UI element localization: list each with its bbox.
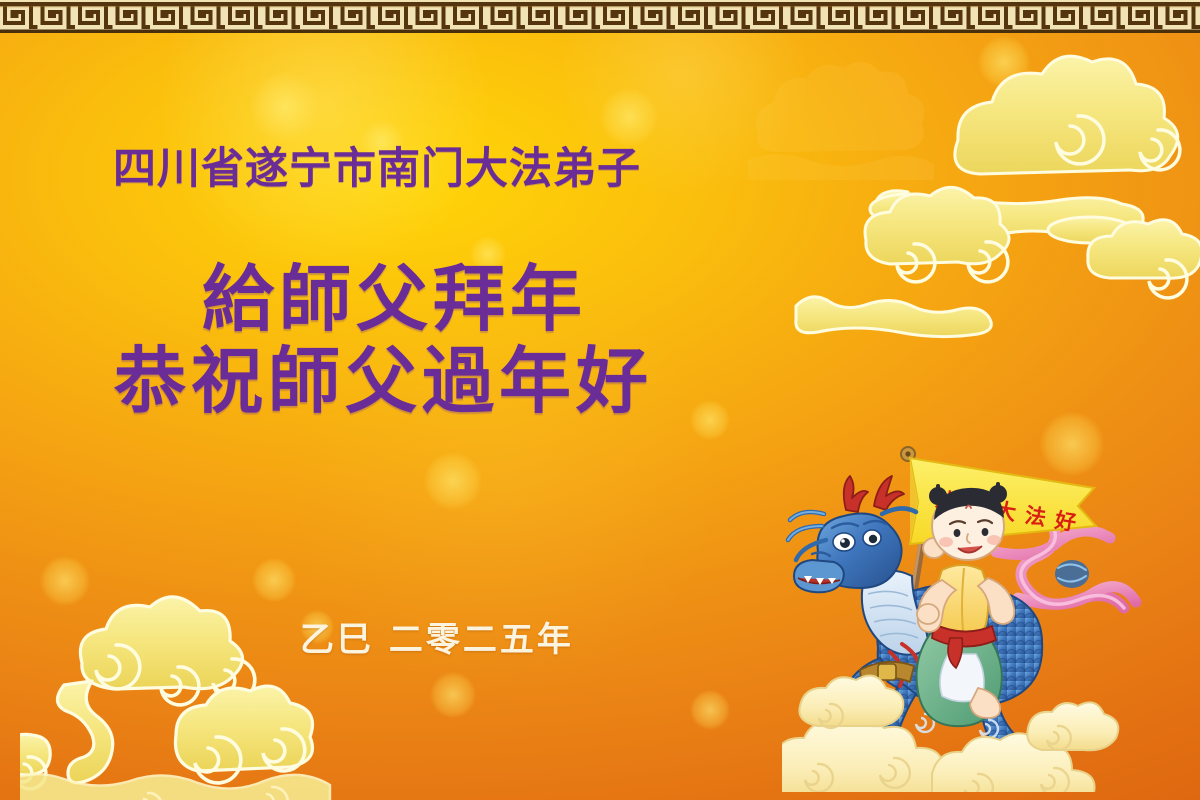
sender-line: 四川省遂宁市南门大法弟子: [113, 134, 641, 196]
bokeh-light: [252, 558, 296, 602]
auspicious-cloud-icon: [740, 40, 990, 230]
greeting-card: 四川省遂宁市南门大法弟子 給師父拜年 恭祝師父過年好 乙巳 二零二五年: [0, 0, 1200, 800]
cloud-decoration-top-right: [790, 44, 1200, 344]
cloud-decoration-bottom-left: [20, 571, 350, 800]
bokeh-light: [40, 556, 90, 606]
illustration-child-riding-dragon: 法 輪 大 法 好: [782, 402, 1142, 792]
auspicious-cloud-icon: [790, 44, 1200, 344]
greek-key-meander-icon: [0, 0, 1200, 33]
greeting-line-2: 恭祝師父過年好: [110, 340, 653, 422]
date-line: 乙巳 二零二五年: [300, 612, 574, 661]
new-year-illustration: 法 輪 大 法 好: [782, 402, 1142, 792]
greeting-block: 給師父拜年 恭祝師父過年好: [110, 258, 653, 422]
bokeh-light: [978, 36, 1030, 88]
bokeh-light: [424, 452, 482, 510]
cloud-decoration-ghost: [740, 40, 990, 230]
auspicious-cloud-icon: [20, 571, 350, 800]
bokeh-light: [430, 672, 476, 718]
greeting-line-1: 給師父拜年: [110, 258, 653, 340]
top-decorative-border: [0, 0, 1200, 33]
svg-text:好: 好: [1052, 508, 1077, 535]
svg-text:法: 法: [1023, 503, 1047, 530]
bokeh-light: [690, 690, 730, 730]
bokeh-light: [250, 72, 320, 142]
bokeh-light: [690, 400, 730, 440]
